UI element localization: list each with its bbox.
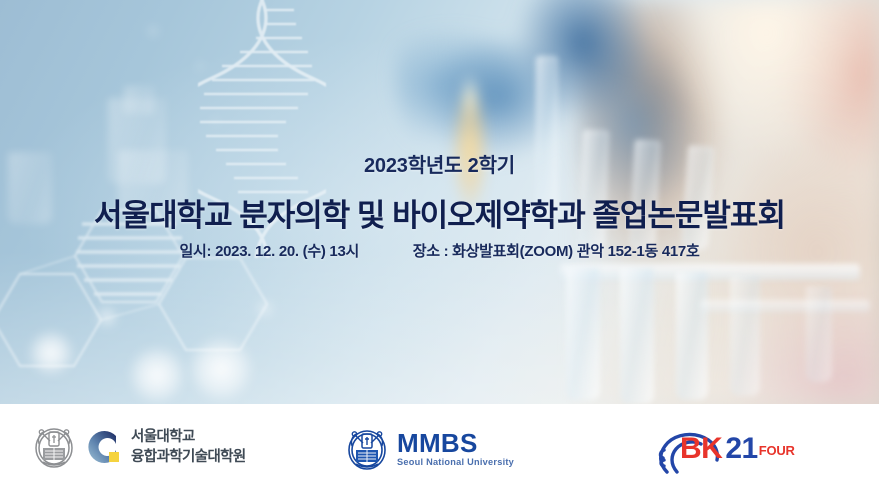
logo-mmbs: MMBS Seoul National University bbox=[345, 426, 514, 472]
logo-snu-gsct: 서울대학교 융합과학기술대학원 bbox=[32, 424, 246, 470]
poster-text-block: 2023학년도 2학기 서울대학교 분자의학 및 바이오제약학과 졸업논문발표회… bbox=[0, 0, 879, 404]
gsct-wordmark: 서울대학교 융합과학기술대학원 bbox=[131, 427, 246, 468]
poster-root: 2023학년도 2학기 서울대학교 분자의학 및 바이오제약학과 졸업논문발표회… bbox=[0, 0, 879, 494]
mmbs-subtitle: Seoul National University bbox=[397, 458, 514, 467]
mmbs-title: MMBS bbox=[397, 430, 514, 456]
event-datetime: 일시: 2023. 12. 20. (수) 13시 bbox=[180, 243, 359, 260]
bk21-21: 21 bbox=[725, 432, 757, 465]
bk21-four: FOUR bbox=[759, 443, 795, 458]
poster-eyebrow: 2023학년도 2학기 bbox=[0, 149, 879, 178]
gsct-c-mark-icon bbox=[82, 427, 122, 467]
gsct-line2: 융합과학기술대학원 bbox=[131, 447, 246, 467]
snu-emblem-icon bbox=[32, 424, 76, 470]
poster-details: 일시: 2023. 12. 20. (수) 13시 장소 : 화상발표회(ZOO… bbox=[0, 240, 879, 261]
gsct-line1: 서울대학교 bbox=[131, 427, 246, 447]
bk21-wordmark: BK21FOUR bbox=[680, 434, 795, 464]
page-title: 서울대학교 분자의학 및 바이오제약학과 졸업논문발표회 bbox=[0, 190, 879, 235]
event-location: 장소 : 화상발표회(ZOOM) 관악 152-1동 417호 bbox=[413, 243, 700, 260]
logo-bk21-four: BK21FOUR bbox=[655, 426, 815, 474]
bk21-bk: BK bbox=[680, 432, 722, 465]
footer-logo-band: 서울대학교 융합과학기술대학원 bbox=[0, 404, 879, 494]
mmbs-wordmark: MMBS Seoul National University bbox=[397, 430, 514, 467]
snu-emblem-blue-icon bbox=[345, 426, 389, 472]
